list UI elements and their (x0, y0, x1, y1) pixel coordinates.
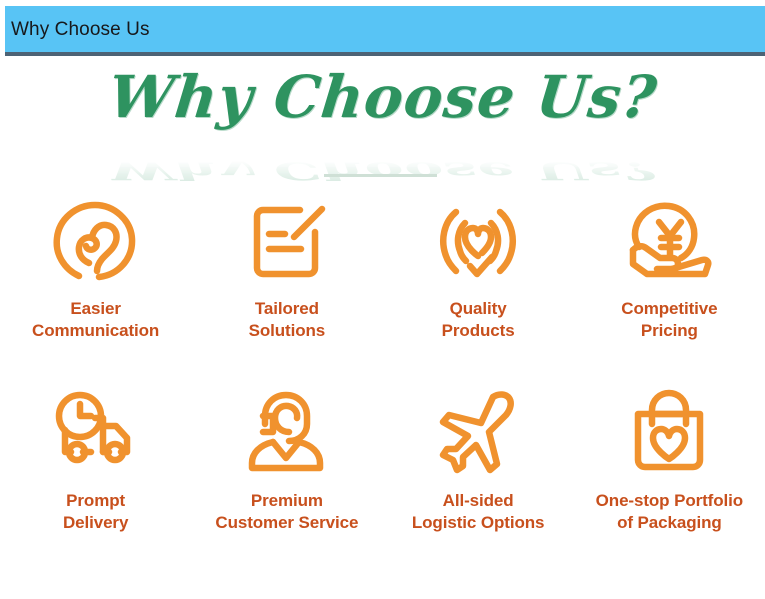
feature-label: Tailored Solutions (249, 298, 326, 342)
shopping-bag-heart-icon (621, 384, 717, 480)
feature-label: Prompt Delivery (63, 490, 128, 534)
ear-in-circle-icon (48, 194, 144, 290)
headset-agent-icon (239, 384, 335, 480)
hand-holding-yen-coin-icon (621, 194, 717, 290)
feature-tailored-solutions[interactable]: Tailored Solutions (191, 194, 382, 342)
feature-label: All-sided Logistic Options (412, 490, 545, 534)
feature-label: One-stop Portfolio of Packaging (596, 490, 743, 534)
feature-row-2: Prompt Delivery Premium Customer Servic (0, 384, 765, 534)
feature-premium-customer-service[interactable]: Premium Customer Service (191, 384, 382, 534)
feature-grid: Easier Communication Tailored Solutions (0, 194, 765, 534)
page-title: Why Choose Us (11, 20, 150, 39)
feature-label: Premium Customer Service (215, 490, 358, 534)
feature-quality-products[interactable]: Quality Products (383, 194, 574, 342)
feature-one-stop-portfolio-of-packaging[interactable]: One-stop Portfolio of Packaging (574, 384, 765, 534)
page-content: Why Choose Us? Why Choose Us? (0, 56, 765, 599)
heart-signal-check-icon (430, 194, 526, 290)
hero-title-reflection: Why Choose Us? (0, 142, 765, 200)
hero-title-mirror: Why Choose Us? (107, 159, 657, 183)
why-choose-us-page: Why Choose Us Why Choose Us? Why Choose … (0, 0, 765, 599)
hero-title: Why Choose Us? (106, 68, 660, 126)
feature-all-sided-logistic-options[interactable]: All-sided Logistic Options (383, 384, 574, 534)
feature-easier-communication[interactable]: Easier Communication (0, 194, 191, 342)
airplane-icon (430, 384, 526, 480)
hero-heading-block: Why Choose Us? Why Choose Us? (0, 68, 765, 168)
feature-competitive-pricing[interactable]: Competitive Pricing (574, 194, 765, 342)
hero-divider (324, 174, 437, 177)
document-pencil-icon (239, 194, 335, 290)
feature-label: Easier Communication (32, 298, 159, 342)
feature-prompt-delivery[interactable]: Prompt Delivery (0, 384, 191, 534)
feature-row-1: Easier Communication Tailored Solutions (0, 194, 765, 342)
feature-label: Competitive Pricing (621, 298, 717, 342)
window-header-bar: Why Choose Us (5, 6, 765, 52)
feature-label: Quality Products (442, 298, 515, 342)
delivery-truck-clock-icon (48, 384, 144, 480)
